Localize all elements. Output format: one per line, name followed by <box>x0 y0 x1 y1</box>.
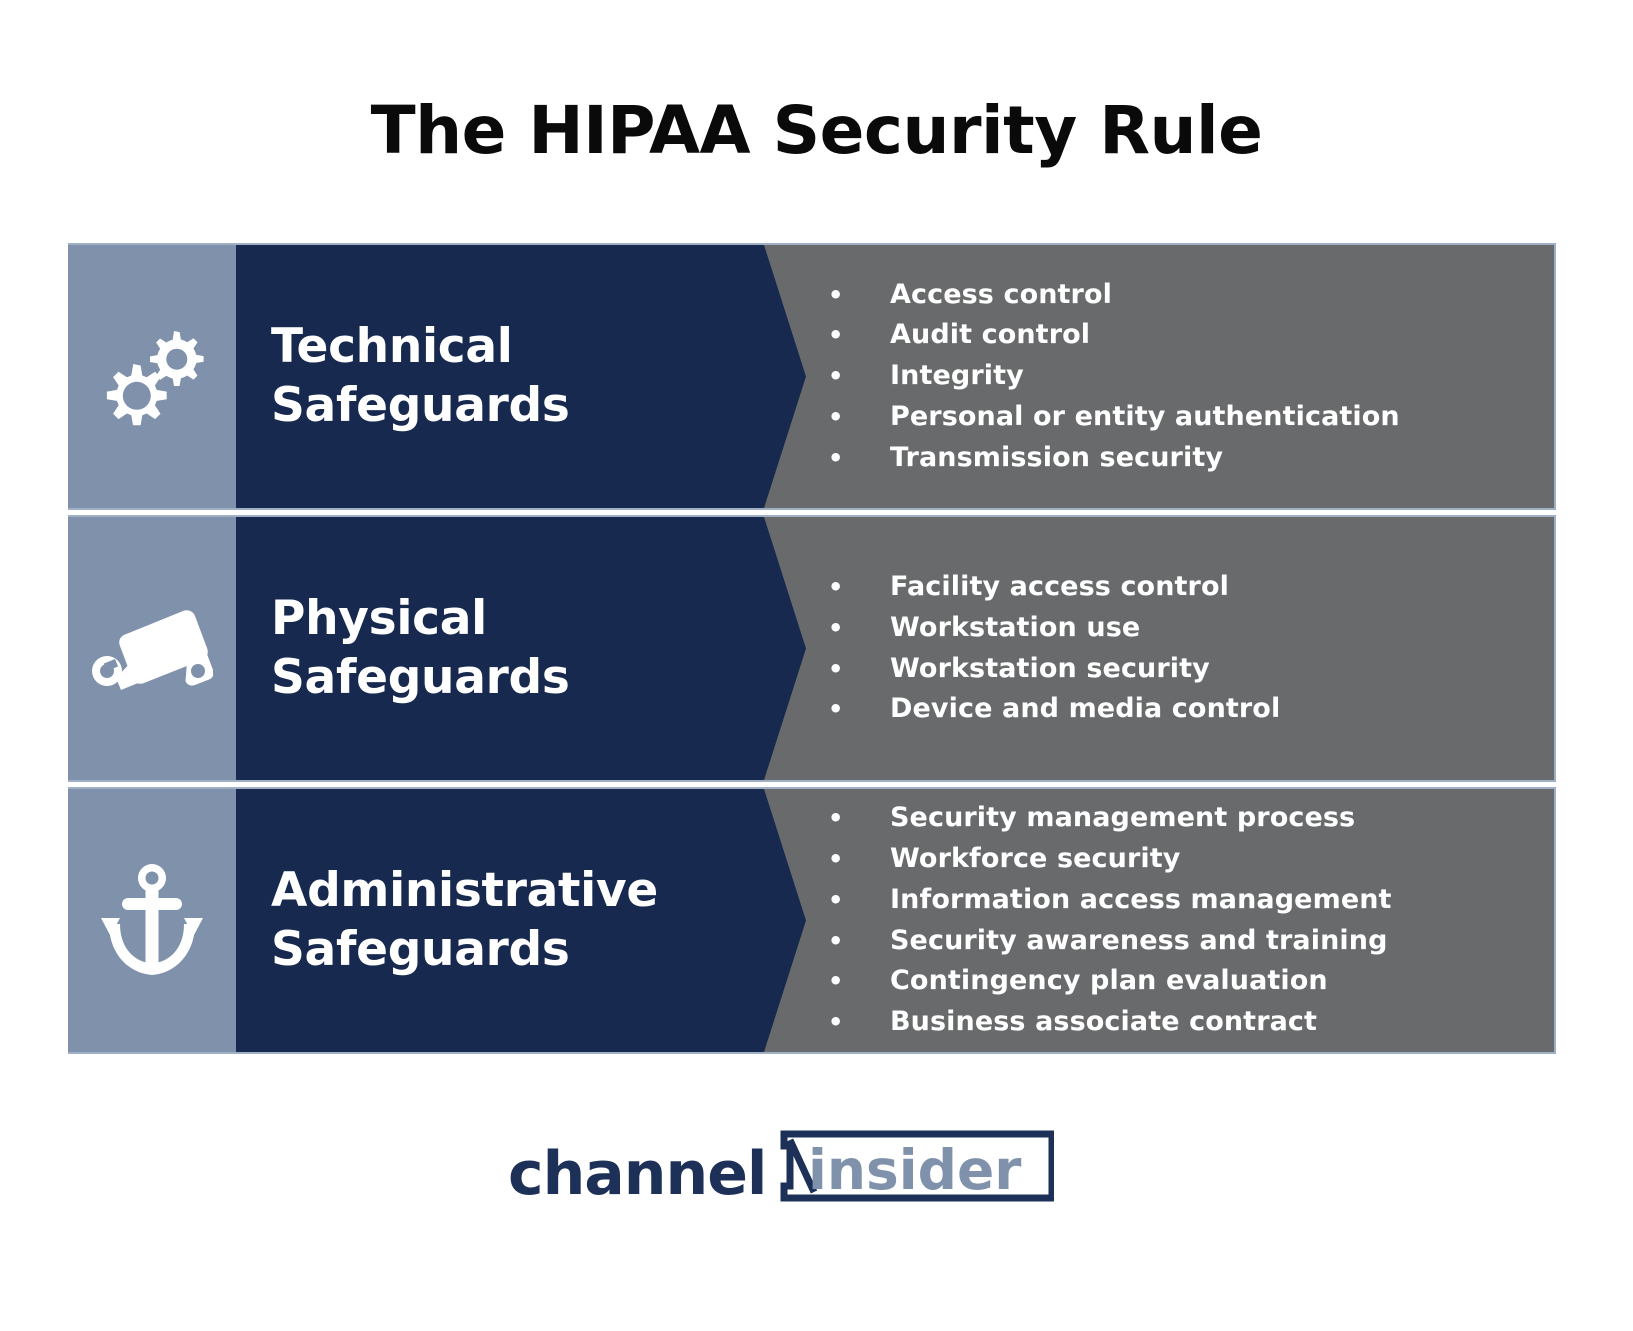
list-item-label: Security awareness and training <box>890 921 1534 962</box>
table-row: Administrative Safeguards • Security man… <box>68 787 1556 1054</box>
bullet-marker-icon: • <box>828 610 890 646</box>
list-item: • Access control <box>828 275 1534 316</box>
chevron-arrow-icon <box>736 245 806 508</box>
list-item: • Facility access control <box>828 567 1534 608</box>
list-item-label: Integrity <box>890 356 1534 397</box>
infographic-page: The HIPAA Security Rule <box>0 0 1633 1331</box>
bullet-marker-icon: • <box>828 800 890 836</box>
channel-insider-logo: channel insider <box>508 1120 1068 1230</box>
row-bullet-list: • Access control • Audit control • Integ… <box>828 245 1554 508</box>
row-title: Administrative Safeguards <box>271 862 658 980</box>
row-bullet-list: • Facility access control • Workstation … <box>828 517 1554 780</box>
security-camera-icon <box>91 599 213 699</box>
list-item-label: Personal or entity authentication <box>890 397 1534 438</box>
list-item-label: Business associate contract <box>890 1002 1534 1043</box>
list-item: • Transmission security <box>828 438 1534 479</box>
list-item: • Audit control <box>828 315 1534 356</box>
bullet-marker-icon: • <box>828 358 890 394</box>
bullet-marker-icon: • <box>828 440 890 476</box>
safeguards-table: Technical Safeguards • Access control • … <box>68 243 1556 1054</box>
list-item-label: Workforce security <box>890 839 1534 880</box>
row-title-line2: Safeguards <box>271 650 570 705</box>
row-label-band: Administrative Safeguards <box>236 789 736 1052</box>
list-item-label: Security management process <box>890 798 1534 839</box>
row-title-line1: Administrative <box>271 863 658 918</box>
row-title-line1: Physical <box>271 591 487 646</box>
list-item: • Security management process <box>828 798 1534 839</box>
row-label-band: Technical Safeguards <box>236 245 736 508</box>
list-item-label: Workstation security <box>890 649 1534 690</box>
bullet-marker-icon: • <box>828 841 890 877</box>
row-title-line2: Safeguards <box>271 922 570 977</box>
anchor-icon <box>97 862 207 980</box>
list-item-label: Device and media control <box>890 689 1534 730</box>
chevron-arrow-icon <box>736 789 806 1052</box>
row-title-line1: Technical <box>271 319 513 374</box>
list-item: • Workforce security <box>828 839 1534 880</box>
row-icon-cell <box>68 517 236 780</box>
logo-wordmark: channel <box>508 1144 766 1204</box>
gears-icon <box>92 317 212 437</box>
list-item: • Business associate contract <box>828 1002 1534 1043</box>
page-title: The HIPAA Security Rule <box>0 98 1633 164</box>
list-item-label: Information access management <box>890 880 1534 921</box>
table-row: Technical Safeguards • Access control • … <box>68 243 1556 510</box>
row-bullet-list: • Security management process • Workforc… <box>828 789 1554 1052</box>
row-icon-cell <box>68 245 236 508</box>
list-item: • Personal or entity authentication <box>828 397 1534 438</box>
list-item-label: Facility access control <box>890 567 1534 608</box>
list-item-label: Access control <box>890 275 1534 316</box>
bullet-marker-icon: • <box>828 691 890 727</box>
list-item-label: Workstation use <box>890 608 1534 649</box>
list-item: • Device and media control <box>828 689 1534 730</box>
row-title: Physical Safeguards <box>271 590 570 708</box>
row-title-line2: Safeguards <box>271 378 570 433</box>
list-item: • Information access management <box>828 880 1534 921</box>
bullet-marker-icon: • <box>828 317 890 353</box>
list-item: • Workstation use <box>828 608 1534 649</box>
bullet-marker-icon: • <box>828 882 890 918</box>
bullet-marker-icon: • <box>828 569 890 605</box>
bullet-marker-icon: • <box>828 399 890 435</box>
bullet-marker-icon: • <box>828 651 890 687</box>
bullet-marker-icon: • <box>828 1004 890 1040</box>
list-item: • Contingency plan evaluation <box>828 961 1534 1002</box>
bullet-marker-icon: • <box>828 963 890 999</box>
list-item: • Security awareness and training <box>828 921 1534 962</box>
bullet-marker-icon: • <box>828 277 890 313</box>
list-item-label: Audit control <box>890 315 1534 356</box>
list-item-label: Transmission security <box>890 438 1534 479</box>
bullet-marker-icon: • <box>828 923 890 959</box>
logo-insider-text: insider <box>808 1143 1021 1198</box>
row-title: Technical Safeguards <box>271 318 570 436</box>
row-label-band: Physical Safeguards <box>236 517 736 780</box>
list-item-label: Contingency plan evaluation <box>890 961 1534 1002</box>
chevron-arrow-icon <box>736 517 806 780</box>
row-icon-cell <box>68 789 236 1052</box>
list-item: • Integrity <box>828 356 1534 397</box>
list-item: • Workstation security <box>828 649 1534 690</box>
table-row: Physical Safeguards • Facility access co… <box>68 515 1556 782</box>
